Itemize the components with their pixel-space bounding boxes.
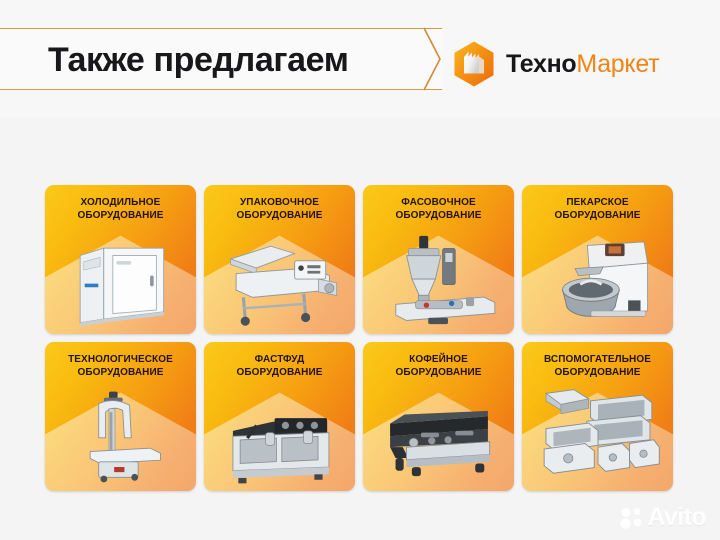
avito-watermark-text: Avito xyxy=(647,505,706,530)
tile-label: ПЕКАРСКОЕ ОБОРУДОВАНИЕ xyxy=(522,196,673,222)
tile-auxiliary-equipment[interactable]: ВСПОМОГАТЕЛЬНОЕ ОБОРУДОВАНИЕ xyxy=(522,342,673,491)
filling-machine-icon xyxy=(363,224,514,330)
band-saw-icon xyxy=(45,381,196,487)
header-banner: Также предлагаем ТехноМаркет xyxy=(0,0,720,118)
tile-fastfood-equipment[interactable]: ФАСТФУД ОБОРУДОВАНИЕ xyxy=(204,342,355,491)
tile-portioning-equipment[interactable]: ФАСОВОЧНОЕ ОБОРУДОВАНИЕ xyxy=(363,185,514,334)
cold-room-icon xyxy=(45,224,196,330)
deep-fryer-icon xyxy=(204,381,355,487)
category-grid: ХОЛОДИЛЬНОЕ ОБОРУДОВАНИЕ УПАКОВОЧНОЕ ОБО… xyxy=(45,185,675,491)
hexagon-building-icon xyxy=(451,40,497,88)
tile-label: КОФЕЙНОЕ ОБОРУДОВАНИЕ xyxy=(363,353,514,379)
espresso-machine-icon xyxy=(363,381,514,487)
brand-name-second: Маркет xyxy=(576,50,659,78)
tile-packaging-equipment[interactable]: УПАКОВОЧНОЕ ОБОРУДОВАНИЕ xyxy=(204,185,355,334)
tile-label: ФАСОВОЧНОЕ ОБОРУДОВАНИЕ xyxy=(363,196,514,222)
tile-label: ФАСТФУД ОБОРУДОВАНИЕ xyxy=(204,353,355,379)
brand-logo[interactable]: ТехноМаркет xyxy=(451,40,659,88)
shrink-wrap-machine-icon xyxy=(204,224,355,330)
spiral-dough-mixer-icon xyxy=(522,224,673,330)
avito-dots-icon xyxy=(620,507,644,529)
page-title: Также предлагаем xyxy=(48,41,348,80)
tile-label: УПАКОВОЧНОЕ ОБОРУДОВАНИЕ xyxy=(204,196,355,222)
tile-label: ТЕХНОЛОГИЧЕСКОЕ ОБОРУДОВАНИЕ xyxy=(45,353,196,379)
tile-label: ХОЛОДИЛЬНОЕ ОБОРУДОВАНИЕ xyxy=(45,196,196,222)
brand-name: ТехноМаркет xyxy=(506,52,659,77)
brand-name-first: Техно xyxy=(506,50,576,78)
gastronorm-trays-icon xyxy=(522,381,673,487)
tile-coffee-equipment[interactable]: КОФЕЙНОЕ ОБОРУДОВАНИЕ xyxy=(363,342,514,491)
tile-bakery-equipment[interactable]: ПЕКАРСКОЕ ОБОРУДОВАНИЕ xyxy=(522,185,673,334)
tile-process-equipment[interactable]: ТЕХНОЛОГИЧЕСКОЕ ОБОРУДОВАНИЕ xyxy=(45,342,196,491)
tile-refrigeration-equipment[interactable]: ХОЛОДИЛЬНОЕ ОБОРУДОВАНИЕ xyxy=(45,185,196,334)
tile-label: ВСПОМОГАТЕЛЬНОЕ ОБОРУДОВАНИЕ xyxy=(522,353,673,379)
avito-watermark: Avito xyxy=(620,505,706,530)
